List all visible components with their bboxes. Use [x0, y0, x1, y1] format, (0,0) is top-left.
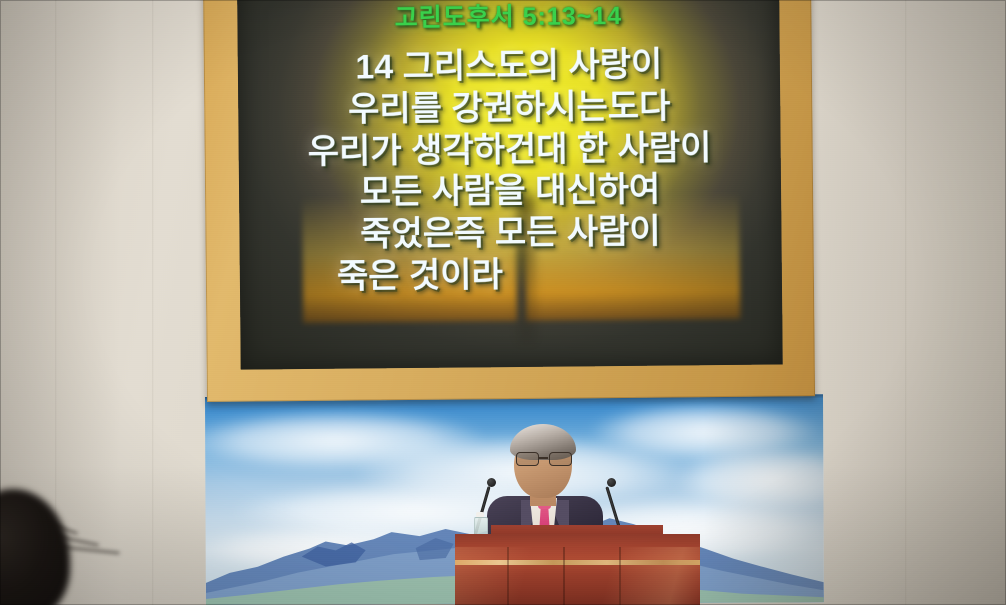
- projection-screen-frame: 고린도후서 5:13~14 14 그리스도의 사랑이 우리를 강권하시는도다 우…: [203, 0, 815, 402]
- slide-scripture-reference: 고린도후서 5:13~14: [394, 0, 622, 34]
- painted-mural: [205, 394, 824, 605]
- slide-line: 죽었은즉 모든 사람이: [360, 213, 661, 256]
- slide-line: 우리를 강권하시는도다: [348, 87, 671, 130]
- slide-line: 모든 사람을 대신하여: [360, 171, 661, 214]
- slide-text-block: 고린도후서 5:13~14 14 그리스도의 사랑이 우리를 강권하시는도다 우…: [237, 0, 783, 370]
- sermon-photo-scene: 고린도후서 5:13~14 14 그리스도의 사랑이 우리를 강권하시는도다 우…: [0, 0, 1006, 605]
- mural-shadow: [703, 394, 824, 603]
- slide-line: 죽은 것이라: [337, 256, 503, 297]
- slide-line: 14 그리스도의 사랑이: [355, 46, 662, 89]
- slide-line: 우리가 생각하건대 한 사람이: [308, 129, 712, 173]
- slide-verse-lines: 14 그리스도의 사랑이 우리를 강권하시는도다 우리가 생각하건대 한 사람이…: [307, 45, 713, 297]
- projection-screen: 고린도후서 5:13~14 14 그리스도의 사랑이 우리를 강권하시는도다 우…: [237, 0, 783, 370]
